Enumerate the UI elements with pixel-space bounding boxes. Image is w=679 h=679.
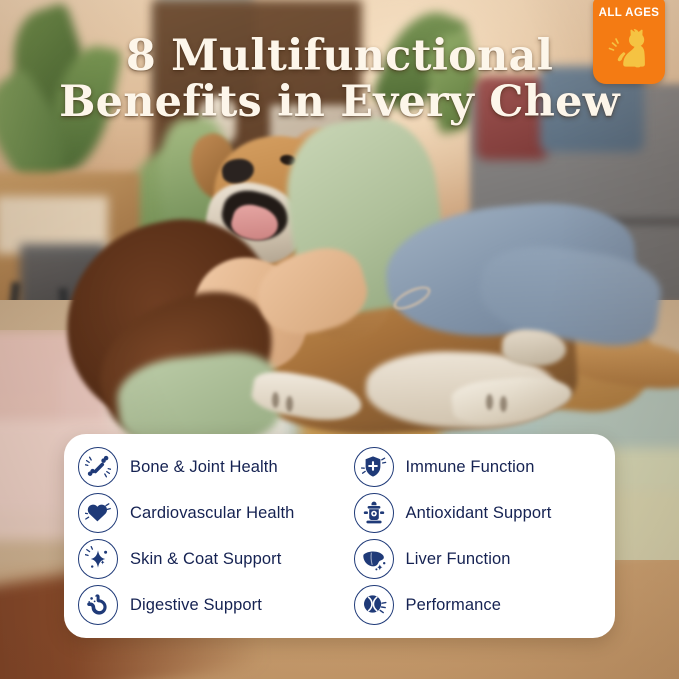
- benefit-item-digestive-support[interactable]: Digestive Support: [64, 582, 340, 628]
- dog-toe: [500, 396, 507, 412]
- benefit-label: Immune Function: [406, 458, 535, 477]
- benefit-label: Liver Function: [406, 550, 511, 569]
- page-title: 8 Multifunctional Benefits in Every Chew: [0, 34, 679, 125]
- benefit-label: Antioxidant Support: [406, 504, 552, 523]
- ball-icon: [354, 585, 394, 625]
- sitting-dog-icon: [604, 21, 654, 78]
- benefit-label: Cardiovascular Health: [130, 504, 294, 523]
- sparkle-icon: [78, 539, 118, 579]
- liver-icon: [354, 539, 394, 579]
- benefit-label: Skin & Coat Support: [130, 550, 281, 569]
- all-ages-badge: ALL AGES: [593, 0, 665, 84]
- benefit-label: Performance: [406, 596, 502, 615]
- stomach-icon: [78, 585, 118, 625]
- shield-plus-icon: [354, 447, 394, 487]
- bone-icon: [78, 447, 118, 487]
- dog-toe: [486, 394, 493, 410]
- benefit-item-antioxidant-support[interactable]: Antioxidant Support: [340, 490, 616, 536]
- benefit-label: Bone & Joint Health: [130, 458, 278, 477]
- benefit-item-performance[interactable]: Performance: [340, 582, 616, 628]
- benefit-item-bone-joint-health[interactable]: Bone & Joint Health: [64, 444, 340, 490]
- benefit-item-immune-function[interactable]: Immune Function: [340, 444, 616, 490]
- benefit-item-skin-coat-support[interactable]: Skin & Coat Support: [64, 536, 340, 582]
- benefit-label: Digestive Support: [130, 596, 262, 615]
- benefit-item-cardiovascular-health[interactable]: Cardiovascular Health: [64, 490, 340, 536]
- heart-icon: [78, 493, 118, 533]
- all-ages-badge-label: ALL AGES: [599, 7, 660, 19]
- dog-toe: [272, 392, 279, 408]
- benefit-item-liver-function[interactable]: Liver Function: [340, 536, 616, 582]
- molecule-icon: [354, 493, 394, 533]
- dog-toe: [286, 396, 293, 412]
- poster: 8 Multifunctional Benefits in Every Chew…: [0, 0, 679, 679]
- benefits-card: Bone & Joint Health Immune Function: [64, 434, 615, 638]
